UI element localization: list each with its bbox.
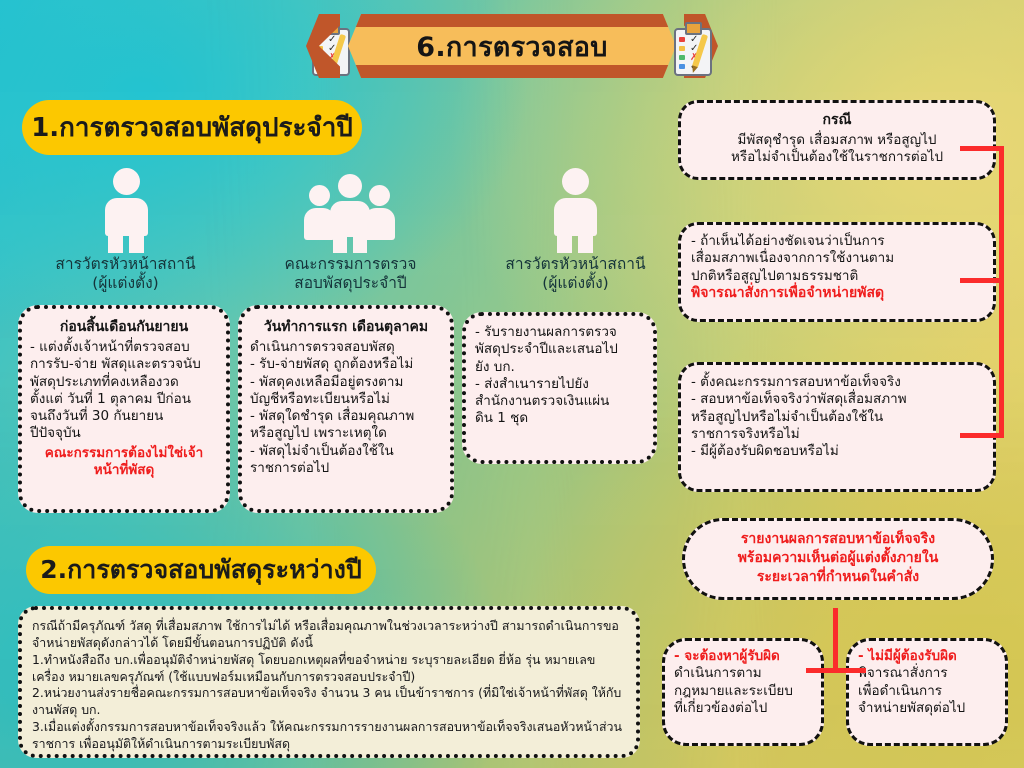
single-person-icon xyxy=(545,168,605,253)
section1-title: 1.การตรวจสอบพัสดุประจำปี xyxy=(31,107,353,148)
card-1-body: - แต่งตั้งเจ้าหน้าที่ตรวจสอบ การรับ-จ่าย… xyxy=(30,339,218,443)
connector-mid xyxy=(960,278,1004,283)
infographic-canvas: ✓ ✓ ✗ ✓ 6.การตรวจสอบ ✓ ✓ ✗ ✓ 1.ก xyxy=(0,0,1024,768)
case-body: มีพัสดุชำรุด เสื่อมสภาพ หรือสูญไป หรือไม… xyxy=(690,132,984,167)
header-title-banner: 6.การตรวจสอบ xyxy=(306,14,718,78)
branch-a-body: - ถ้าเห็นได้อย่างชัดเจนว่าเป็นการ เสื่อม… xyxy=(691,233,983,285)
header-plate: 6.การตรวจสอบ xyxy=(348,14,676,78)
branch-b-box: - ตั้งคณะกรรมการสอบหาข้อเท็จจริง - สอบหา… xyxy=(678,362,996,492)
role-label-3: สารวัตรหัวหน้าสถานี (ผู้แต่งตั้ง) xyxy=(468,255,683,293)
clipboard-checklist-icon: ✓ ✓ ✗ ✓ xyxy=(672,22,712,74)
role-label-1: สารวัตรหัวหน้าสถานี (ผู้แต่งตั้ง) xyxy=(18,255,233,293)
role-label-2: คณะกรรมการตรวจ สอบพัสดุประจำปี xyxy=(253,255,448,293)
outcome-2-lead: - ไม่มีผู้ต้องรับผิด xyxy=(858,648,996,665)
section2-note: กรณีถ้ามีครุภัณฑ์ วัสดุ ที่เสื่อมสภาพ ใช… xyxy=(18,606,640,758)
branch-a-box: - ถ้าเห็นได้อย่างชัดเจนว่าเป็นการ เสื่อม… xyxy=(678,222,996,322)
header: ✓ ✓ ✗ ✓ 6.การตรวจสอบ ✓ ✓ ✗ ✓ xyxy=(0,14,1024,90)
card-annual-step-2: วันทำการแรก เดือนตุลาคม ดำเนินการตรวจสอบ… xyxy=(238,305,454,513)
card-annual-step-1: ก่อนสิ้นเดือนกันยายน - แต่งตั้งเจ้าหน้าท… xyxy=(18,305,230,513)
card-2-heading: วันทำการแรก เดือนตุลาคม xyxy=(250,316,442,338)
connector-split-horizontal xyxy=(806,668,866,673)
section2-title: 2.การตรวจสอบพัสดุระหว่างปี xyxy=(40,550,361,590)
card-2-body: ดำเนินการตรวจสอบพัสดุ - รับ-จ่ายพัสดุ ถู… xyxy=(250,339,442,477)
single-person-icon xyxy=(96,168,156,253)
chevron-left-icon xyxy=(306,14,340,78)
report-text: รายงานผลการสอบหาข้อเท็จจริง พร้อมความเห็… xyxy=(695,530,981,587)
connector-bottom xyxy=(960,433,1004,438)
outcome-1-body: ดำเนินการตาม กฎหมายและระเบียบ ที่เกี่ยวข… xyxy=(674,665,812,717)
section2-title-pill: 2.การตรวจสอบพัสดุระหว่างปี xyxy=(26,546,376,594)
outcome-1-lead: - จะต้องหาผู้รับผิด xyxy=(674,648,812,665)
group-person-icon xyxy=(305,168,395,253)
connector-split-vertical xyxy=(833,608,838,670)
card-1-heading: ก่อนสิ้นเดือนกันยายน xyxy=(30,316,218,338)
report-box: รายงานผลการสอบหาข้อเท็จจริง พร้อมความเห็… xyxy=(682,518,994,600)
card-3-body: - รับรายงานผลการตรวจ พัสดุประจำปีและเสนอ… xyxy=(475,324,644,428)
outcome-2-body: พิจารณาสั่งการ เพื่อดำเนินการ จำหน่ายพัส… xyxy=(858,665,996,717)
card-1-footer: คณะกรรมการต้องไม่ใช่เจ้า หน้าที่พัสดุ xyxy=(30,445,218,480)
branch-b-body: - ตั้งคณะกรรมการสอบหาข้อเท็จจริง - สอบหา… xyxy=(691,374,983,460)
case-heading: กรณี xyxy=(690,109,984,131)
section2-note-text: กรณีถ้ามีครุภัณฑ์ วัสดุ ที่เสื่อมสภาพ ใช… xyxy=(32,618,626,753)
case-box: กรณี มีพัสดุชำรุด เสื่อมสภาพ หรือสูญไป ห… xyxy=(678,100,996,180)
branch-a-highlight: พิจารณาสั่งการเพื่อจำหน่ายพัสดุ xyxy=(691,285,983,303)
card-annual-step-3: - รับรายงานผลการตรวจ พัสดุประจำปีและเสนอ… xyxy=(462,312,657,464)
connector-top xyxy=(960,146,1004,151)
section1-title-pill: 1.การตรวจสอบพัสดุประจำปี xyxy=(22,100,362,155)
outcome-box-not-liable: - ไม่มีผู้ต้องรับผิด พิจารณาสั่งการ เพื่… xyxy=(846,638,1008,746)
outcome-box-liable: - จะต้องหาผู้รับผิด ดำเนินการตาม กฎหมายแ… xyxy=(662,638,824,746)
connector-vertical-main xyxy=(999,146,1004,438)
page-title: 6.การตรวจสอบ xyxy=(416,25,608,68)
